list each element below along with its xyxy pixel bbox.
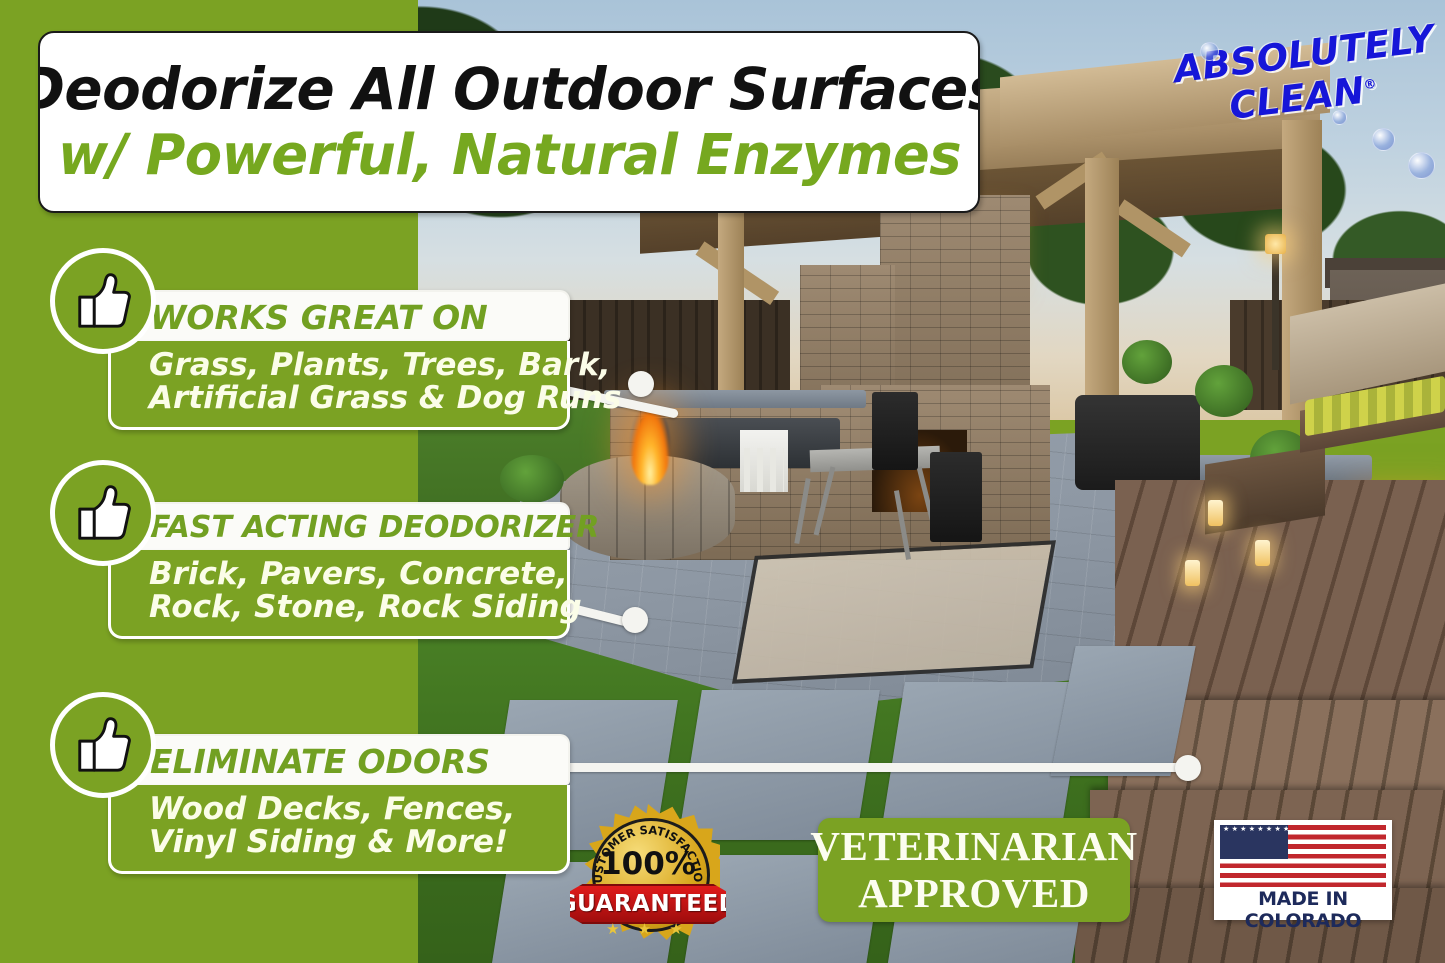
bubble-icon [1372,128,1395,151]
thumbs-up-icon [50,692,156,798]
stepping-stone [1050,646,1195,776]
guaranteed-ribbon: GUARANTEED [570,884,726,924]
seal-stars-icon: ★ ★ ★ [570,920,726,938]
feature-body: Grass, Plants, Trees, Bark, Artificial G… [108,341,570,430]
garden-shrub [500,455,564,503]
fire-flame [630,405,670,485]
feature-title: FAST ACTING DEODORIZER [108,502,570,550]
potted-plant [1195,365,1253,417]
registered-trademark-icon: ® [1363,77,1378,93]
headline-line-2: w/ Powerful, Natural Enzymes [57,128,960,184]
callout-pointer-dot-1 [628,371,654,397]
feature-body: Wood Decks, Fences, Vinyl Siding & More! [108,785,570,874]
vet-line-1: VETERINARIAN [810,826,1137,867]
made-in-colorado-badge: ★★★★★★★★★★★★★★★★★★★★★★★★★★★★★★★★★★★★★★★★… [1214,820,1392,920]
bubble-icon [1332,110,1347,125]
thumbs-up-icon [50,248,156,354]
feature-body-line-1: Wood Decks, Fences, [149,793,557,826]
vet-line-2: APPROVED [858,873,1090,914]
feature-body-line-2: Artificial Grass & Dog Runs [149,382,557,415]
feature-body: Brick, Pavers, Concrete, Rock, Stone, Ro… [108,550,570,639]
feature-body-line-1: Grass, Plants, Trees, Bark, [149,349,557,382]
headline-line-1: Deodorize All Outdoor Surfaces [38,60,980,118]
feature-title: ELIMINATE ODORS [108,734,570,785]
patio-chair [930,452,982,542]
callout-works-great-on: WORKS GREAT ON Grass, Plants, Trees, Bar… [108,290,570,430]
callout-pointer-dot-3 [1175,755,1201,781]
bubble-icon [1200,42,1219,61]
product-marketing-image: Deodorize All Outdoor Surfaces w/ Powerf… [0,0,1445,963]
feature-body-line-2: Rock, Stone, Rock Siding [149,591,557,624]
seal-percent: 100% [592,846,704,882]
veterinarian-approved-badge: VETERINARIAN APPROVED [818,818,1130,922]
gazebo-post [1085,158,1119,408]
deck-lantern [1255,540,1270,566]
bar-stool [740,430,788,492]
patio-chair [872,392,918,470]
guaranteed-label: GUARANTEED [558,891,739,917]
deck-lantern [1185,560,1200,586]
callout-fast-acting-deodorizer: FAST ACTING DEODORIZER Brick, Pavers, Co… [108,502,570,639]
wicker-sofa [1075,395,1200,490]
feature-title: WORKS GREAT ON [108,290,570,341]
thumbs-up-icon [50,460,156,566]
deck-lantern [1208,500,1223,526]
bubble-icon [1408,152,1435,179]
street-light [1272,250,1279,370]
flag-stars-icon: ★★★★★★★★★★★★★★★★★★★★★★★★★★★★★★★★★★★★★★★★… [1220,825,1288,859]
callout-eliminate-odors: ELIMINATE ODORS Wood Decks, Fences, Viny… [108,734,570,874]
outdoor-rug [732,540,1056,683]
satisfaction-guarantee-badge: CUSTOMER SATISFACTION 100% GUARANTEED ★ … [570,800,726,945]
callout-pointer-line-3 [500,763,1190,772]
headline-box: Deodorize All Outdoor Surfaces w/ Powerf… [38,31,980,213]
made-in-colorado-label: MADE IN COLORADO [1214,888,1392,932]
feature-body-line-2: Vinyl Siding & More! [149,826,557,859]
potted-plant [1122,340,1172,384]
feature-body-line-1: Brick, Pavers, Concrete, [149,558,557,591]
callout-pointer-dot-2 [622,607,648,633]
